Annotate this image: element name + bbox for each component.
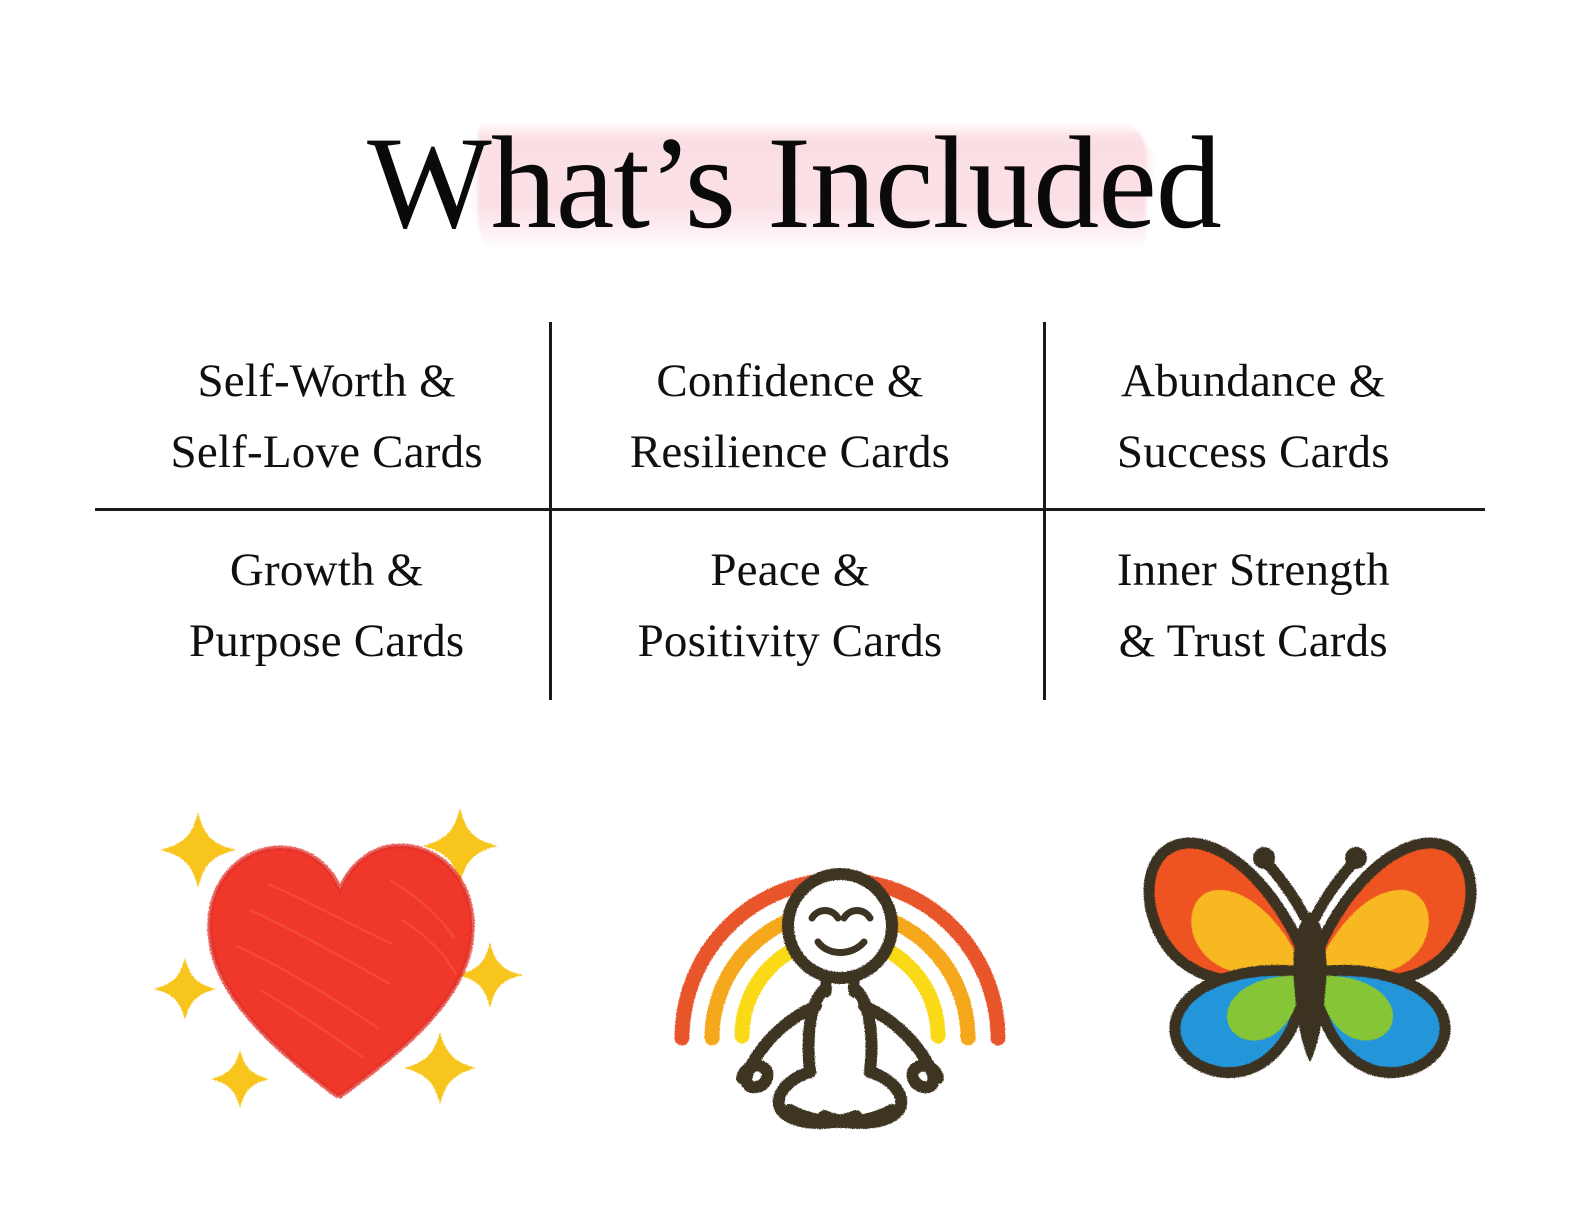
grid-vertical-divider-2 — [1043, 322, 1046, 700]
heart-with-sparkles-icon — [140, 760, 540, 1140]
grid-cell-label: Self-Worth & Self-Love Cards — [170, 346, 482, 488]
meditating-figure-rainbow-illustration — [640, 760, 1040, 1140]
grid-cell-abundance: Abundance & Success Cards — [1022, 322, 1485, 511]
table-row: Growth & Purpose Cards Peace & Positivit… — [95, 511, 1485, 700]
grid-cell-growth: Growth & Purpose Cards — [95, 511, 558, 700]
butterfly-body — [1294, 912, 1327, 1062]
antenna-tip-left — [1253, 847, 1275, 869]
grid-cell-label: Abundance & Success Cards — [1117, 346, 1390, 488]
grid-cell-label: Confidence & Resilience Cards — [630, 346, 950, 488]
page-title: What’s Included — [0, 108, 1588, 258]
title-section: What’s Included — [0, 108, 1588, 268]
grid-cell-self-worth: Self-Worth & Self-Love Cards — [95, 322, 558, 511]
grid-cell-label: Peace & Positivity Cards — [638, 535, 943, 677]
illustrations-row — [0, 760, 1588, 1140]
grid-cell-label: Inner Strength & Trust Cards — [1117, 535, 1390, 677]
table-row: Self-Worth & Self-Love Cards Confidence … — [95, 322, 1485, 511]
antenna-tip-right — [1345, 847, 1367, 869]
grid-cell-confidence: Confidence & Resilience Cards — [558, 322, 1021, 511]
sparkling-heart-illustration — [140, 760, 540, 1140]
meditating-person-icon — [742, 874, 938, 1123]
butterfly-illustration — [1110, 760, 1510, 1140]
grid-cell-peace: Peace & Positivity Cards — [558, 511, 1021, 700]
grid-vertical-divider-1 — [549, 322, 552, 700]
grid-cell-inner-strength: Inner Strength & Trust Cards — [1022, 511, 1485, 700]
meditation-rainbow-icon — [640, 760, 1040, 1140]
grid-horizontal-divider — [95, 508, 1485, 511]
grid-cell-label: Growth & Purpose Cards — [189, 535, 464, 677]
included-items-grid: Self-Worth & Self-Love Cards Confidence … — [95, 322, 1485, 700]
butterfly-icon — [1110, 760, 1510, 1140]
